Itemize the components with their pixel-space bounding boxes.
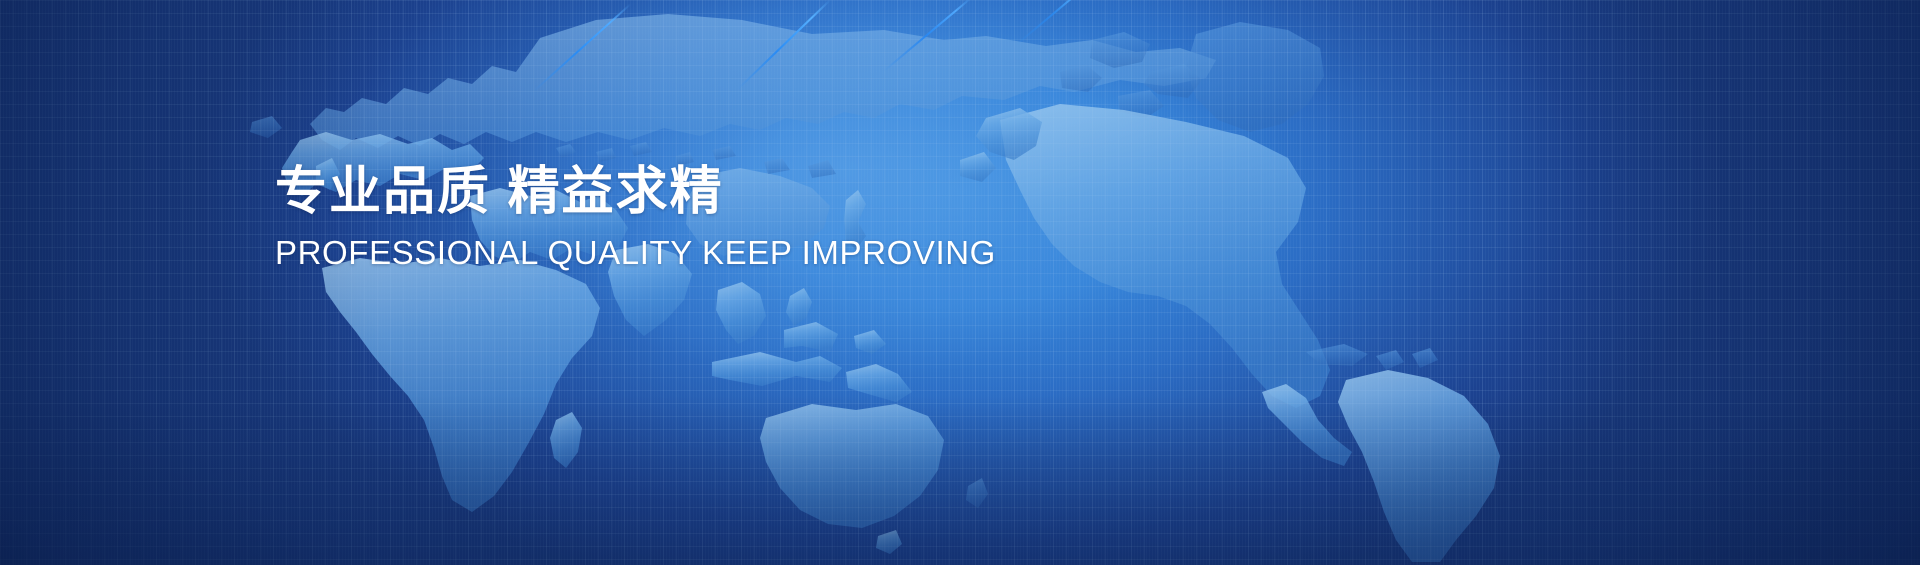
hero-banner: 专业品质 精益求精 PROFESSIONAL QUALITY KEEP IMPR… (0, 0, 1920, 565)
banner-headline-chinese: 专业品质 精益求精 (275, 163, 996, 221)
banner-subheadline-english: PROFESSIONAL QUALITY KEEP IMPROVING (275, 235, 996, 271)
banner-copy: 专业品质 精益求精 PROFESSIONAL QUALITY KEEP IMPR… (275, 163, 996, 272)
world-map-graphic (0, 0, 1920, 565)
